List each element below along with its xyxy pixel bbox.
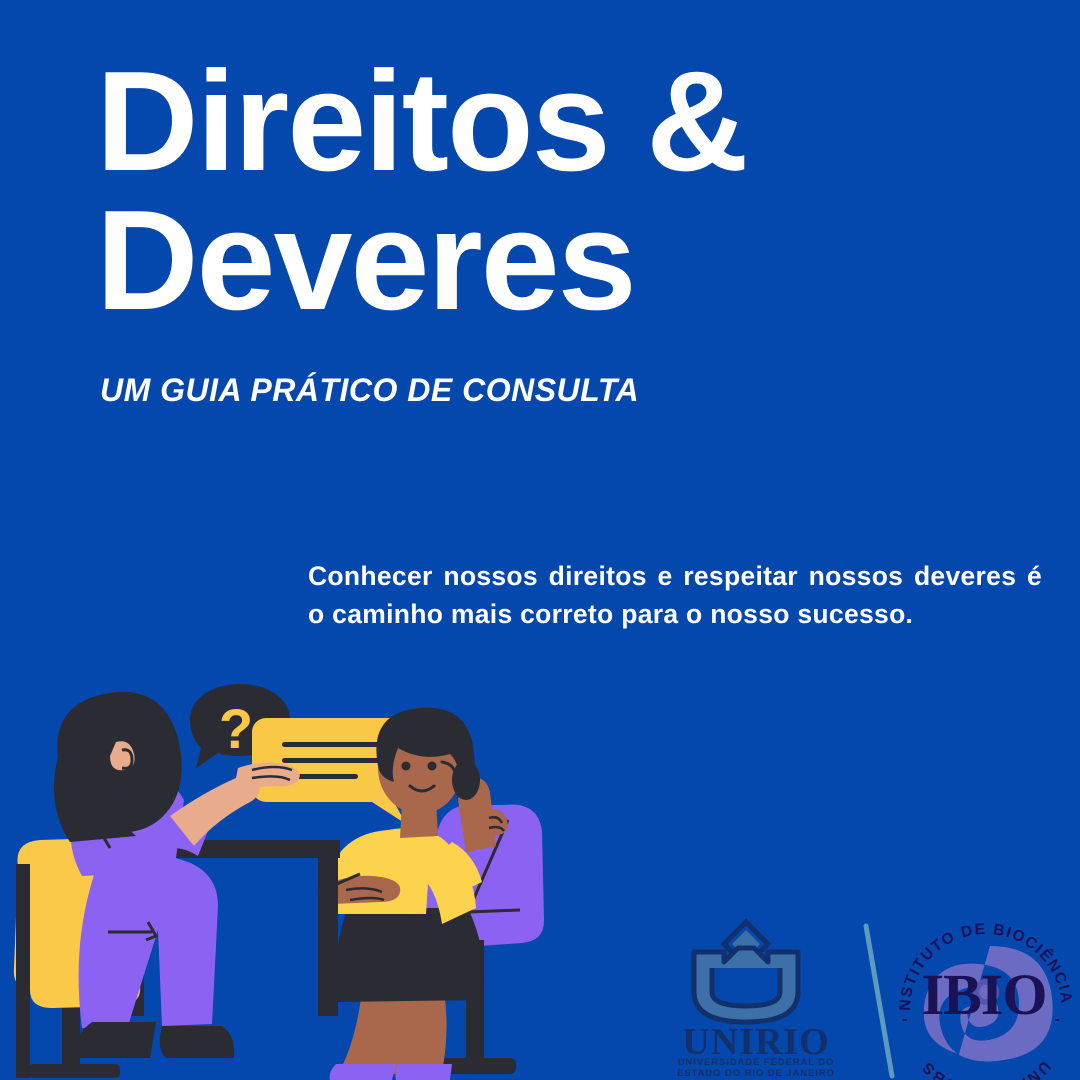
unirio-tagline-line1: UNIVERSIDADE FEDERAL DO bbox=[678, 1057, 835, 1068]
question-mark-glyph: ? bbox=[219, 697, 253, 760]
ibio-ring-separator-left: - bbox=[902, 1011, 907, 1028]
unirio-logo: UNIRIO UNIVERSIDADE FEDERAL DO ESTADO DO… bbox=[668, 918, 844, 1078]
unirio-tagline-line2: ESTADO DO RIO DE JANEIRO bbox=[677, 1068, 835, 1078]
body-paragraph: Conhecer nossos direitos e respeitar nos… bbox=[308, 558, 1042, 633]
page-title: Direitos & Deveres bbox=[96, 52, 816, 330]
poster-canvas: Direitos & Deveres UM GUIA PRÁTICO DE CO… bbox=[0, 0, 1080, 1080]
ibio-ring-separator-right: - bbox=[1055, 1011, 1060, 1028]
ibio-wordmark: IBIO bbox=[922, 962, 1047, 1027]
unirio-mark-icon bbox=[694, 922, 798, 1022]
ibio-logo: INSTITUTO DE BIOCIÊNCIAS UNIRIO - CCBS -… bbox=[894, 918, 1074, 1080]
page-subtitle: UM GUIA PRÁTICO DE CONSULTA bbox=[100, 372, 639, 409]
illustration-two-women-talking: ? bbox=[0, 650, 640, 1080]
